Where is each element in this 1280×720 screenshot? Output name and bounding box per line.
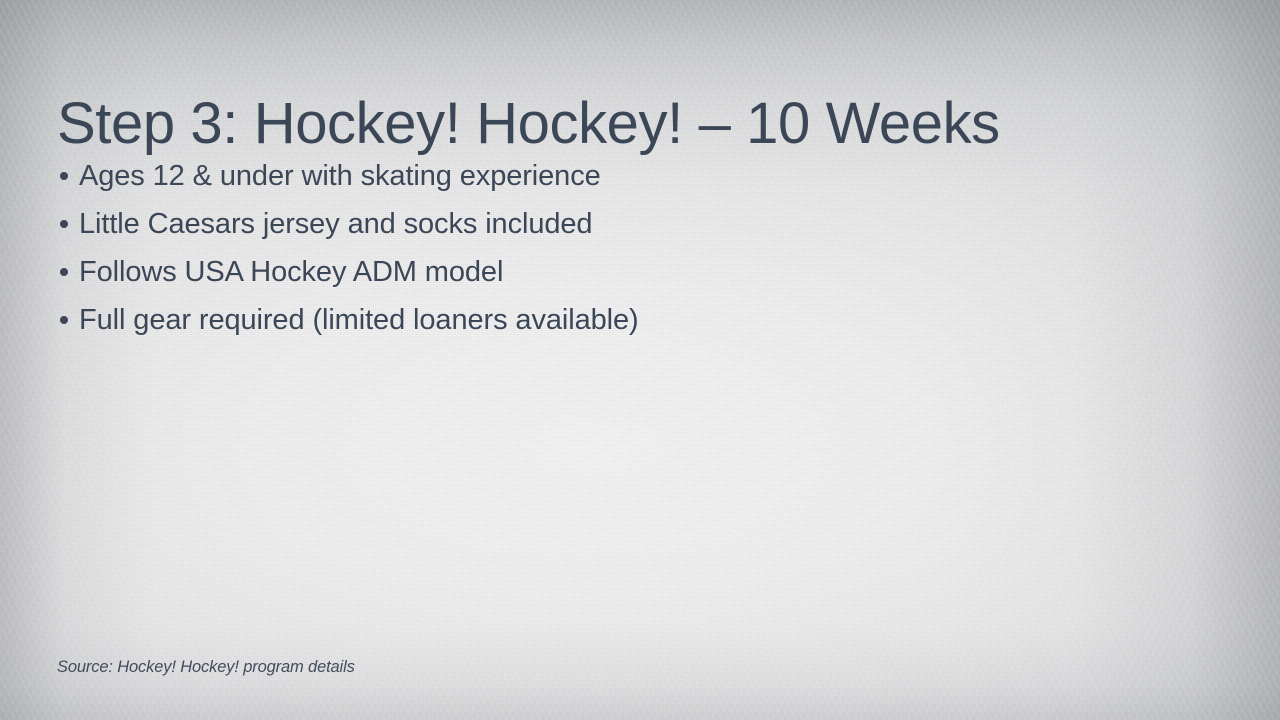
presentation-slide: Step 3: Hockey! Hockey! – 10 Weeks Ages … [0,0,1280,720]
bullet-marker-icon [60,268,68,276]
bullet-list: Ages 12 & under with skating experience … [57,152,1177,344]
slide-title: Step 3: Hockey! Hockey! – 10 Weeks [57,90,1207,157]
bullet-marker-icon [60,316,68,324]
slide-content: Step 3: Hockey! Hockey! – 10 Weeks Ages … [0,0,1280,720]
bullet-item: Full gear required (limited loaners avai… [57,296,1177,344]
bullet-item: Little Caesars jersey and socks included [57,200,1177,248]
bullet-marker-icon [60,220,68,228]
bullet-item-label: Full gear required (limited loaners avai… [79,304,639,336]
bullet-item: Ages 12 & under with skating experience [57,152,1177,200]
bullet-item: Follows USA Hockey ADM model [57,248,1177,296]
source-note: Source: Hockey! Hockey! program details [57,658,355,677]
bullet-item-label: Little Caesars jersey and socks included [79,208,592,240]
bullet-marker-icon [60,172,68,180]
bullet-item-label: Follows USA Hockey ADM model [79,256,503,288]
bullet-item-label: Ages 12 & under with skating experience [79,160,601,192]
